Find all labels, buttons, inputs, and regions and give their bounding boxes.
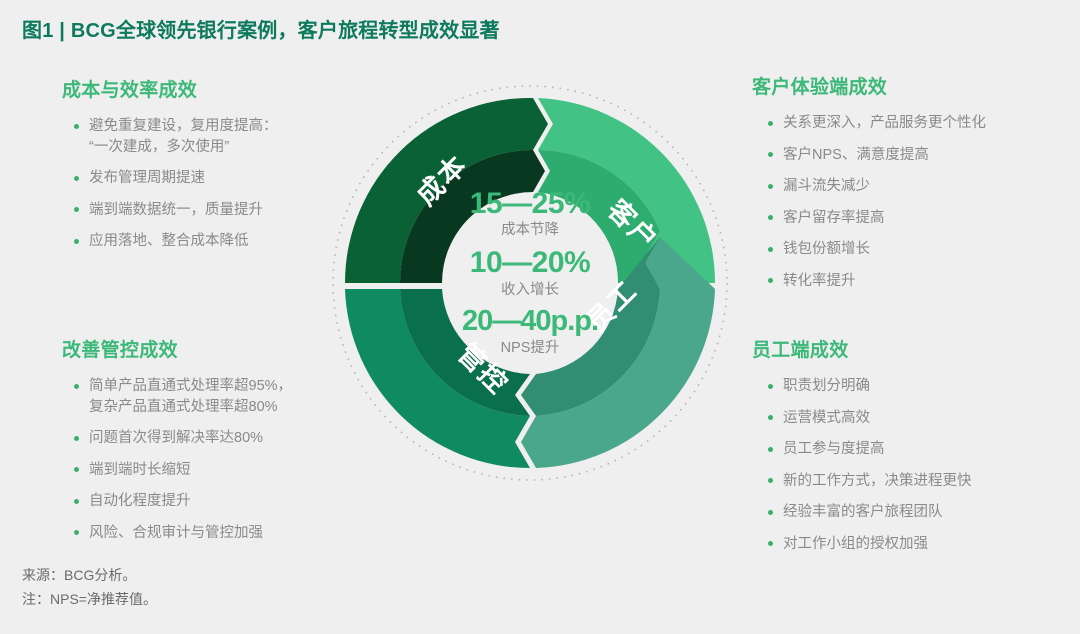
bullet-dot-icon (768, 447, 773, 452)
list-item-text: 漏斗流失减少 (783, 178, 870, 194)
bullet-dot-icon (768, 478, 773, 483)
list-item: 关系更深入，产品服务更个性化 (766, 113, 1052, 134)
panel-employee-outcomes: 员工端成效 职责划分明确 运营模式高效 员工参与度提高 新的工作方式，决策进程更… (752, 335, 1052, 554)
footer-source: 来源：BCG分析。 (22, 563, 157, 587)
list-item: 自动化程度提升 (72, 491, 372, 512)
list-item-text: 风险、合规审计与管控加强 (89, 525, 263, 541)
list-item-text: 客户NPS、满意度提高 (783, 147, 929, 163)
list-item: 端到端数据统一，质量提升 (72, 200, 362, 221)
bullet-list-employee-outcomes: 职责划分明确 运营模式高效 员工参与度提高 新的工作方式，决策进程更快 经验丰富… (766, 376, 1052, 554)
list-item-text: 端到端数据统一，质量提升 (89, 202, 263, 218)
bullet-dot-icon (768, 121, 773, 126)
panel-title-employee-outcomes: 员工端成效 (752, 335, 1052, 362)
list-item: 避免重复建设，复用度提高： “一次建成，多次使用” (72, 116, 362, 157)
bullet-dot-icon (768, 510, 773, 515)
list-item-text: 发布管理周期提速 (89, 170, 205, 186)
list-item-text: 钱包份额增长 (783, 241, 870, 257)
list-item-text: 自动化程度提升 (89, 493, 191, 509)
bullet-list-customer-experience: 关系更深入，产品服务更个性化 客户NPS、满意度提高 漏斗流失减少 客户留存率提… (766, 113, 1052, 291)
list-item-text: 问题首次得到解决率达80% (89, 430, 263, 446)
bullet-dot-icon (768, 384, 773, 389)
metric-value-cost-saving: 15—25% (430, 188, 630, 220)
bullet-dot-icon (74, 207, 79, 212)
metric-label-nps-lift: NPS提升 (430, 338, 630, 360)
bullet-dot-icon (768, 215, 773, 220)
list-item: 端到端时长缩短 (72, 460, 372, 481)
bullet-dot-icon (74, 239, 79, 244)
bullet-dot-icon (768, 278, 773, 283)
bullet-list-control-improvement: 简单产品直通式处理率超95%， 复杂产品直通式处理率超80% 问题首次得到解决率… (72, 376, 372, 543)
list-item: 新的工作方式，决策进程更快 (766, 471, 1052, 492)
panel-cost-efficiency: 成本与效率成效 避免重复建设，复用度提高： “一次建成，多次使用” 发布管理周期… (62, 75, 362, 252)
list-item: 经验丰富的客户旅程团队 (766, 502, 1052, 523)
list-item: 职责划分明确 (766, 376, 1052, 397)
list-item-text: 避免重复建设，复用度提高： (89, 118, 278, 134)
infographic-page: { "title": "图1 | BCG全球领先银行案例，客户旅程转型成效显著"… (0, 0, 1080, 634)
list-item: 应用落地、整合成本降低 (72, 231, 362, 252)
bullet-dot-icon (768, 541, 773, 546)
list-item: 简单产品直通式处理率超95%， 复杂产品直通式处理率超80% (72, 376, 372, 417)
bullet-dot-icon (74, 176, 79, 181)
list-item: 员工参与度提高 (766, 439, 1052, 460)
list-item: 钱包份额增长 (766, 239, 1052, 260)
metric-value-nps-lift: 20—40p.p. (430, 306, 630, 337)
bullet-dot-icon (74, 384, 79, 389)
panel-title-customer-experience: 客户体验端成效 (752, 72, 1052, 99)
list-item-text: 客户留存率提高 (783, 210, 885, 226)
list-item: 对工作小组的授权加强 (766, 534, 1052, 555)
list-item: 漏斗流失减少 (766, 176, 1052, 197)
panel-customer-experience: 客户体验端成效 关系更深入，产品服务更个性化 客户NPS、满意度提高 漏斗流失减… (752, 72, 1052, 291)
list-item-text: 端到端时长缩短 (89, 462, 191, 478)
panel-title-control-improvement: 改善管控成效 (62, 335, 372, 362)
list-item: 运营模式高效 (766, 408, 1052, 429)
list-item-text: 运营模式高效 (783, 410, 870, 426)
footer: 来源：BCG分析。 注：NPS=净推荐值。 (22, 563, 157, 611)
list-item-text-line2: 复杂产品直通式处理率超80% (89, 397, 372, 418)
list-item-text: 应用落地、整合成本降低 (89, 233, 249, 249)
bullet-dot-icon (768, 247, 773, 252)
list-item-text: 对工作小组的授权加强 (783, 536, 928, 552)
bullet-dot-icon (74, 124, 79, 129)
bullet-dot-icon (74, 436, 79, 441)
list-item-text: 转化率提升 (783, 273, 856, 289)
list-item: 转化率提升 (766, 271, 1052, 292)
bullet-dot-icon (768, 415, 773, 420)
panel-control-improvement: 改善管控成效 简单产品直通式处理率超95%， 复杂产品直通式处理率超80% 问题… (62, 335, 372, 543)
center-metrics: 15—25% 成本节降 10—20% 收入增长 20—40p.p. NPS提升 (430, 188, 630, 364)
footer-note: 注：NPS=净推荐值。 (22, 587, 157, 611)
list-item: 问题首次得到解决率达80% (72, 428, 372, 449)
list-item: 客户留存率提高 (766, 208, 1052, 229)
bullet-dot-icon (768, 152, 773, 157)
bullet-dot-icon (74, 530, 79, 535)
list-item: 客户NPS、满意度提高 (766, 145, 1052, 166)
list-item: 发布管理周期提速 (72, 168, 362, 189)
list-item-text: 简单产品直通式处理率超95%， (89, 378, 292, 394)
bullet-dot-icon (74, 499, 79, 504)
page-title: 图1 | BCG全球领先银行案例，客户旅程转型成效显著 (22, 14, 500, 43)
list-item-text: 员工参与度提高 (783, 441, 885, 457)
list-item-text: 新的工作方式，决策进程更快 (783, 473, 972, 489)
bullet-list-cost-efficiency: 避免重复建设，复用度提高： “一次建成，多次使用” 发布管理周期提速 端到端数据… (72, 116, 362, 252)
bullet-dot-icon (74, 467, 79, 472)
list-item-text: 职责划分明确 (783, 378, 870, 394)
metric-label-cost-saving: 成本节降 (430, 220, 630, 242)
list-item-text-line2: “一次建成，多次使用” (89, 137, 362, 158)
list-item-text: 关系更深入，产品服务更个性化 (783, 115, 986, 131)
list-item: 风险、合规审计与管控加强 (72, 523, 372, 544)
metric-label-revenue-growth: 收入增长 (430, 280, 630, 302)
bullet-dot-icon (768, 184, 773, 189)
list-item-text: 经验丰富的客户旅程团队 (783, 504, 943, 520)
metric-value-revenue-growth: 10—20% (430, 247, 630, 279)
panel-title-cost-efficiency: 成本与效率成效 (62, 75, 362, 102)
